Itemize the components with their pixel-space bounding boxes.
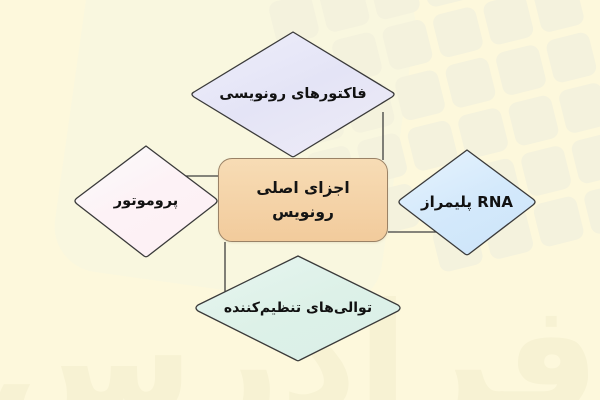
node-label-promoter: پروموتور	[72, 142, 220, 260]
diagram-canvas: فرادرس فاکتورهای رونویسی	[0, 0, 600, 400]
node-rna-polymerase[interactable]: RNA پلیمراز	[396, 146, 538, 258]
node-label-core-components: اجزای اصلی رونویس	[256, 176, 349, 224]
node-core-components[interactable]: اجزای اصلی رونویس	[218, 158, 388, 242]
node-label-transcription-factors: فاکتورهای رونویسی	[188, 28, 398, 160]
node-transcription-factors[interactable]: فاکتورهای رونویسی	[188, 28, 398, 160]
node-label-core-components-line2: رونویس	[256, 200, 349, 224]
node-promoter[interactable]: پروموتور	[72, 142, 220, 260]
node-label-rna-polymerase: RNA پلیمراز	[396, 146, 538, 258]
node-regulatory-sequences[interactable]: توالی‌های تنظیم‌کننده	[192, 252, 404, 364]
node-label-regulatory-sequences: توالی‌های تنظیم‌کننده	[192, 252, 404, 364]
node-label-core-components-line1: اجزای اصلی	[256, 176, 349, 200]
